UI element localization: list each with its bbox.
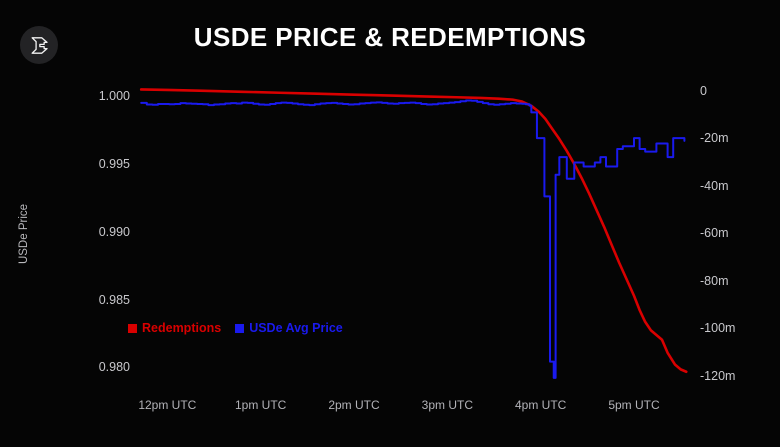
legend-swatch-redemptions [128, 324, 137, 333]
legend-label-usde-avg-price: USDe Avg Price [249, 321, 343, 335]
chart-page: USDE PRICE & REDEMPTIONS USDe Price Cumu… [0, 0, 780, 447]
chart-legend: Redemptions USDe Avg Price [128, 321, 343, 335]
legend-item-usde-avg-price[interactable]: USDe Avg Price [235, 321, 343, 335]
legend-label-redemptions: Redemptions [142, 321, 221, 335]
legend-item-redemptions[interactable]: Redemptions [128, 321, 221, 335]
plot-area [0, 0, 780, 447]
legend-swatch-usde-avg-price [235, 324, 244, 333]
series-line-usde-avg-price [141, 100, 684, 377]
